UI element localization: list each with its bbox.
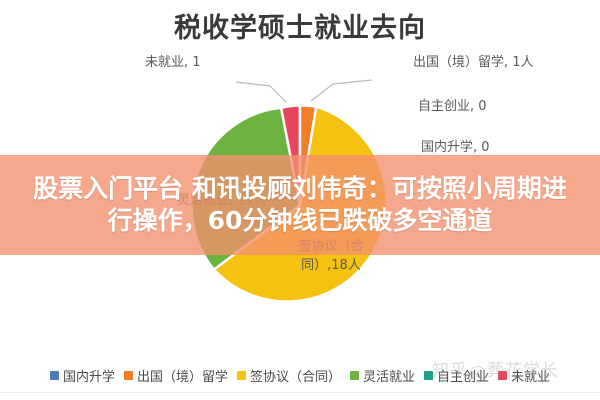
legend-swatch-icon [124, 371, 133, 380]
data-label-zizhuchuangye: 自主创业, 0 [418, 98, 487, 117]
chart-legend: 国内升学 出国（境）留学 签协议（合同） 灵活就业 自主创业 未就业 [0, 366, 600, 385]
bottom-divider [0, 392, 600, 393]
legend-label: 出国（境）留学 [137, 366, 228, 385]
legend-item-qianxieyi[interactable]: 签协议（合同） [237, 366, 341, 385]
legend-swatch-icon [498, 371, 507, 380]
legend-item-weijiuye[interactable]: 未就业 [498, 366, 550, 385]
promo-banner-line-2: 行操作，60分钟线已跌破多空通道 [108, 205, 493, 238]
data-label-qianxieyi-line2: 同）,18人 [301, 258, 361, 273]
legend-item-linghuojiuye[interactable]: 灵活就业 [350, 366, 415, 385]
legend-swatch-icon [50, 371, 59, 380]
screenshot-canvas: 税收学硕士就业去向 未就业, 1 出国（境）留学, 1人 自主创业, 0 国内升… [0, 0, 600, 400]
legend-label: 国内升学 [63, 366, 115, 385]
data-label-chuguoliuxue: 出国（境）留学, 1人 [413, 54, 534, 73]
legend-item-chuguoliuxue[interactable]: 出国（境）留学 [124, 366, 228, 385]
legend-item-zizhuchuangye[interactable]: 自主创业 [424, 366, 489, 385]
promo-banner: 股票入门平台 和讯投顾刘伟奇：可按照小周期进 行操作，60分钟线已跌破多空通道 [0, 155, 600, 255]
leader-line-weijiuye [236, 82, 286, 102]
legend-item-guoneishengxue[interactable]: 国内升学 [50, 366, 115, 385]
chart-title: 税收学硕士就业去向 [0, 6, 600, 45]
legend-swatch-icon [424, 371, 433, 380]
legend-swatch-icon [350, 371, 359, 380]
legend-label: 自主创业 [437, 366, 489, 385]
legend-label: 灵活就业 [363, 366, 415, 385]
promo-banner-line-1: 股票入门平台 和讯投顾刘伟奇：可按照小周期进 [33, 173, 567, 206]
legend-swatch-icon [237, 371, 246, 380]
legend-label: 未就业 [511, 366, 550, 385]
data-label-weijiuye: 未就业, 1 [145, 54, 201, 73]
leader-line-chuguoliuxue [311, 80, 372, 101]
legend-label: 签协议（合同） [250, 366, 341, 385]
